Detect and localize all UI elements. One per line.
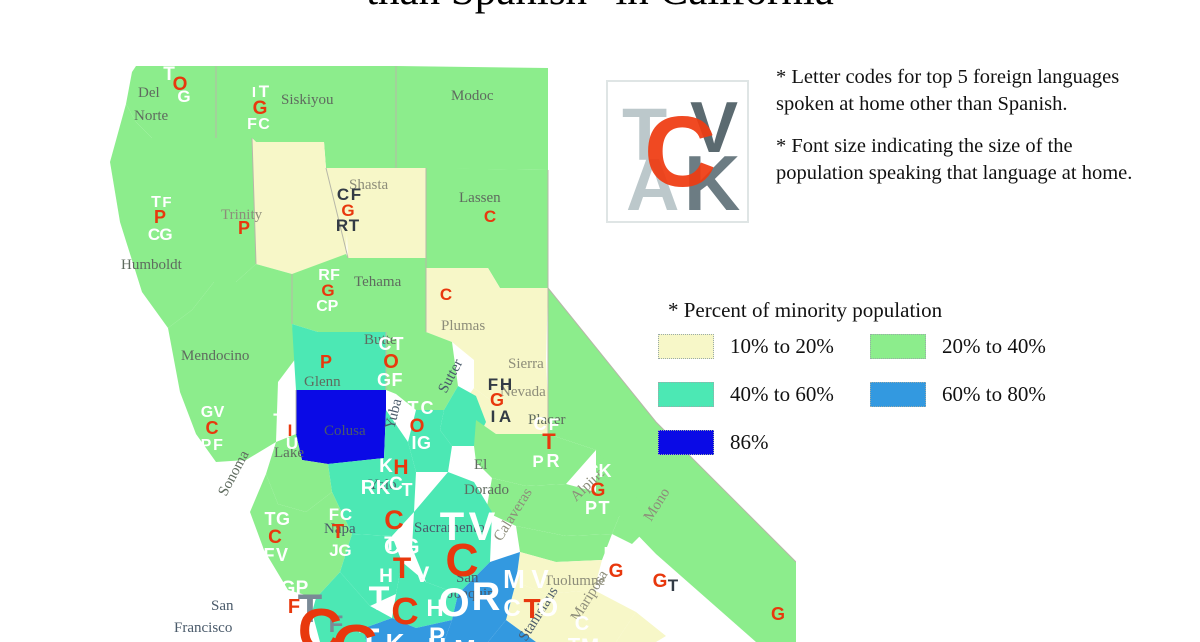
language-code: K bbox=[386, 628, 405, 642]
language-code: T bbox=[265, 509, 276, 529]
legend-item-2: 40% to 60% bbox=[658, 382, 834, 407]
language-code: P bbox=[238, 218, 250, 238]
language-code: P bbox=[154, 207, 166, 227]
language-cluster: GT bbox=[653, 571, 679, 595]
language-code: R bbox=[361, 477, 376, 499]
language-cluster: C bbox=[440, 285, 452, 304]
legend-swatch-4 bbox=[658, 430, 714, 455]
language-code: H bbox=[428, 632, 447, 642]
language-code: J bbox=[643, 556, 653, 576]
language-cluster: P bbox=[238, 218, 250, 238]
language-code: G bbox=[417, 433, 431, 453]
legend-label-4: 86% bbox=[730, 430, 769, 455]
language-cluster: RK bbox=[361, 477, 391, 499]
language-code: T bbox=[393, 552, 411, 585]
language-code: G bbox=[771, 604, 785, 624]
language-code: C bbox=[391, 591, 418, 633]
color-legend: 10% to 20% 20% to 40% 40% to 60% 60% to … bbox=[658, 334, 1118, 478]
language-code: T bbox=[402, 480, 413, 500]
language-code: P bbox=[201, 437, 212, 454]
language-code: C bbox=[503, 595, 520, 622]
legend-swatch-3 bbox=[870, 382, 926, 407]
language-code: U bbox=[286, 434, 298, 453]
language-code: M bbox=[503, 564, 525, 594]
language-code: T bbox=[568, 635, 580, 642]
county-label: Plumas bbox=[441, 318, 485, 334]
language-code: K bbox=[599, 461, 612, 481]
language-code: V bbox=[276, 545, 288, 565]
language-code: P bbox=[320, 352, 332, 372]
language-code: G bbox=[332, 613, 380, 642]
language-code: M bbox=[581, 634, 599, 642]
legend-label-3: 60% to 80% bbox=[942, 382, 1046, 407]
language-code: T bbox=[408, 398, 419, 418]
logo-letter-c: C bbox=[644, 102, 716, 202]
language-code: G bbox=[276, 509, 290, 529]
legend-item-3: 60% to 80% bbox=[870, 382, 1046, 407]
language-code: P bbox=[328, 298, 339, 315]
county-label: Humboldt bbox=[121, 257, 183, 273]
county-label: Glenn bbox=[304, 374, 341, 390]
language-code: F bbox=[392, 370, 403, 390]
county-label: Colusa bbox=[324, 423, 366, 439]
language-code: V bbox=[531, 564, 549, 594]
language-code: C bbox=[384, 505, 404, 535]
language-code: T bbox=[332, 521, 344, 543]
language-code: C bbox=[440, 285, 452, 304]
language-code: C bbox=[206, 418, 219, 438]
language-code: H bbox=[426, 595, 443, 622]
language-code: C bbox=[258, 116, 270, 133]
legend-swatch-1 bbox=[870, 334, 926, 359]
language-code: A bbox=[499, 407, 511, 426]
language-cluster: P bbox=[320, 352, 332, 372]
note-font-size: * Font size indicating the size of the p… bbox=[776, 133, 1158, 188]
language-code: R bbox=[336, 216, 348, 235]
language-code: T bbox=[599, 498, 610, 518]
language-code: J bbox=[329, 541, 338, 560]
language-code: G bbox=[177, 87, 190, 106]
note-letter-codes: * Letter codes for top 5 foreign languag… bbox=[776, 64, 1158, 119]
legend-heading: * Percent of minority population bbox=[668, 298, 942, 323]
county-label: Modoc bbox=[451, 88, 494, 104]
legend-item-0: 10% to 20% bbox=[658, 334, 834, 359]
language-code: C bbox=[316, 298, 328, 315]
notes-block: * Letter codes for top 5 foreign languag… bbox=[776, 64, 1158, 201]
county-label: Francisco bbox=[174, 620, 232, 636]
language-code: C bbox=[484, 207, 496, 226]
language-code: P bbox=[282, 615, 294, 635]
county-label: Norte bbox=[134, 108, 168, 124]
language-code: C bbox=[575, 613, 589, 635]
language-code: K bbox=[376, 477, 391, 499]
language-code: R bbox=[547, 451, 560, 471]
language-code: F bbox=[213, 437, 223, 454]
language-code: P bbox=[585, 498, 597, 518]
legend-item-4: 86% bbox=[658, 430, 769, 455]
language-code: O bbox=[538, 592, 558, 622]
legend-label-2: 40% to 60% bbox=[730, 382, 834, 407]
language-code: G bbox=[653, 571, 668, 592]
language-code: I bbox=[411, 433, 416, 453]
language-cluster: C bbox=[484, 207, 496, 226]
language-code: C bbox=[421, 398, 434, 418]
map-infographic: than Spanish" in California .cg { fill:#… bbox=[0, 0, 1200, 630]
language-code: G bbox=[609, 561, 624, 582]
county-label: El bbox=[474, 457, 487, 473]
language-cluster: RGJ bbox=[604, 544, 654, 582]
language-code: T bbox=[349, 216, 360, 235]
legend-label-1: 20% to 40% bbox=[942, 334, 1046, 359]
language-code: T bbox=[668, 576, 679, 595]
page-title: than Spanish" in California bbox=[0, 0, 1200, 15]
county-label: Tehama bbox=[354, 274, 402, 290]
county-label: Del bbox=[138, 85, 160, 101]
county-label: Dorado bbox=[464, 482, 509, 498]
language-code: I bbox=[491, 407, 496, 426]
legend-label-0: 10% to 20% bbox=[730, 334, 834, 359]
language-code: T bbox=[273, 411, 285, 432]
tcvak-logo: T A V K C bbox=[606, 80, 749, 223]
language-code: C bbox=[148, 225, 160, 244]
county-label: Siskiyou bbox=[281, 92, 334, 108]
language-code: G bbox=[159, 225, 172, 244]
county-label: Lassen bbox=[459, 190, 501, 206]
language-code: P bbox=[532, 452, 543, 471]
language-code: F bbox=[264, 545, 275, 565]
language-code: R bbox=[472, 575, 501, 619]
legend-swatch-0 bbox=[658, 334, 714, 359]
language-code: M bbox=[454, 634, 476, 642]
language-code: G bbox=[377, 370, 391, 390]
language-code: G bbox=[338, 541, 351, 560]
language-code: C bbox=[586, 461, 599, 481]
language-code: V bbox=[415, 562, 430, 587]
county-label: San bbox=[211, 598, 234, 614]
language-code: F bbox=[247, 116, 257, 133]
language-cluster: G bbox=[771, 604, 785, 624]
legend-swatch-2 bbox=[658, 382, 714, 407]
legend-item-1: 20% to 40% bbox=[870, 334, 1046, 359]
county-label: Sierra bbox=[508, 356, 544, 372]
county-label: Mendocino bbox=[181, 348, 249, 364]
